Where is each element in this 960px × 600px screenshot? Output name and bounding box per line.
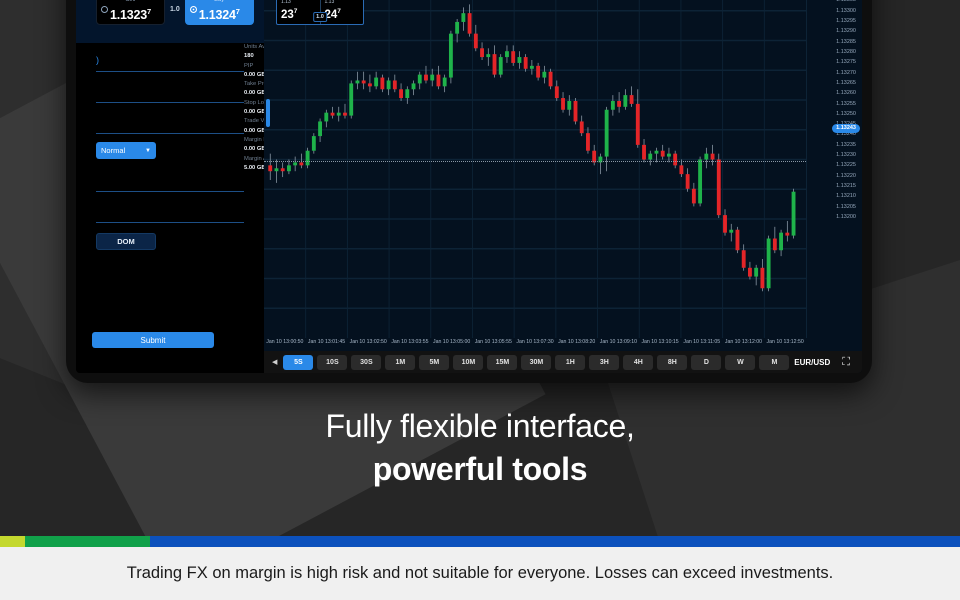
order-bidask-area: Sell 1.13237 1.0 Buy 1.13247 xyxy=(76,0,264,25)
timeframe-toolbar: ◀ 5S10S30S1M5M10M15M30M1H3H4H8HDWM EUR/U… xyxy=(264,351,862,373)
bid-ask-spread: 1.0 xyxy=(170,6,180,13)
price-tick: 1.13270 xyxy=(836,70,856,77)
order-field-3[interactable] xyxy=(96,111,244,134)
chart-popup-spread: 1.0 xyxy=(313,12,327,22)
timeframe-button-3h[interactable]: 3H xyxy=(589,355,619,370)
price-tick: 1.13255 xyxy=(836,101,856,108)
footer-bar: Trading FX on margin is high risk and no… xyxy=(0,547,960,600)
price-tick: 1.13305 xyxy=(836,0,856,4)
timeframe-button-1m[interactable]: 1M xyxy=(385,355,415,370)
time-tick: Jan 10 13:10:15 xyxy=(641,339,678,345)
price-tick: 1.13235 xyxy=(836,142,856,149)
headline-line-2: powerful tools xyxy=(0,447,960,491)
color-stripe xyxy=(0,536,960,547)
time-tick: Jan 10 13:09:10 xyxy=(600,339,637,345)
chart-panel: EUR/USD ▲ Sell 1.13 237 Buy 1.13 247 xyxy=(264,0,862,373)
price-axis[interactable]: 1.133101.133051.133001.132951.132901.132… xyxy=(806,0,862,338)
sell-radio-icon[interactable] xyxy=(101,6,108,13)
tablet-device: Sell 1.13237 1.0 Buy 1.13247 0.718800.71… xyxy=(66,0,872,383)
time-tick: Jan 10 13:05:55 xyxy=(475,339,512,345)
timeframe-button-30m[interactable]: 30M xyxy=(521,355,551,370)
price-tick: 1.13200 xyxy=(836,214,856,221)
submit-button[interactable]: Submit xyxy=(92,332,214,348)
chevron-down-icon: ▼ xyxy=(145,148,151,154)
time-tick: Jan 10 13:07:30 xyxy=(516,339,553,345)
price-tick: 1.13300 xyxy=(836,8,856,15)
candles-svg xyxy=(264,0,806,338)
price-tick: 1.13215 xyxy=(836,183,856,190)
price-tick: 1.13210 xyxy=(836,193,856,200)
stripe-segment-green xyxy=(25,536,150,547)
buy-price-button[interactable]: Buy 1.13247 xyxy=(185,0,254,25)
price-tick: 1.13295 xyxy=(836,18,856,25)
bid-ask-selector[interactable]: Sell 1.13237 1.0 Buy 1.13247 xyxy=(96,0,264,25)
timeframe-button-4h[interactable]: 4H xyxy=(623,355,653,370)
price-tick: 1.13260 xyxy=(836,90,856,97)
price-tick: 1.13225 xyxy=(836,162,856,169)
order-field-1[interactable]: ) xyxy=(96,49,244,72)
buy-price-value: 1.13247 xyxy=(191,4,248,23)
order-type-value: Normal xyxy=(101,146,125,155)
timeframe-button-30s[interactable]: 30S xyxy=(351,355,381,370)
chart-active-pair[interactable]: EUR/USD xyxy=(794,358,830,367)
timeframe-button-w[interactable]: W xyxy=(725,355,755,370)
buy-radio-icon[interactable] xyxy=(190,6,197,13)
sell-price-value: 1.13237 xyxy=(102,4,159,23)
order-type-select[interactable]: Normal ▼ xyxy=(96,142,156,159)
chevron-left-icon[interactable]: ◀ xyxy=(270,358,279,366)
price-tick: 1.13290 xyxy=(836,28,856,35)
time-tick: Jan 10 13:12:50 xyxy=(767,339,804,345)
timeframe-button-15m[interactable]: 15M xyxy=(487,355,517,370)
chart-popup-buy-value: 247 xyxy=(325,5,360,22)
chart-popup-sell-value: 237 xyxy=(281,5,316,22)
price-tick: 1.13275 xyxy=(836,59,856,66)
current-price-tag: 1.13243 xyxy=(832,124,860,133)
order-field-2[interactable] xyxy=(96,80,244,103)
sell-price-button[interactable]: Sell 1.13237 xyxy=(96,0,165,25)
price-cursor-line xyxy=(264,161,806,162)
time-tick: Jan 10 13:05:00 xyxy=(433,339,470,345)
chart-toolbar-right: EUR/USD ⛶ xyxy=(794,357,856,368)
risk-disclaimer: Trading FX on margin is high risk and no… xyxy=(127,564,834,583)
dom-button[interactable]: DOM xyxy=(96,233,156,250)
time-tick: Jan 10 13:11:05 xyxy=(683,339,720,345)
timeframe-button-10m[interactable]: 10M xyxy=(453,355,483,370)
order-field-4[interactable] xyxy=(96,169,244,192)
chart-pair-quote-popup[interactable]: EUR/USD ▲ Sell 1.13 237 Buy 1.13 247 xyxy=(276,0,364,25)
timeframe-button-10s[interactable]: 10S xyxy=(317,355,347,370)
order-entry-panel: ) Normal ▼ DOM Submit xyxy=(76,43,264,373)
stripe-segment-blue xyxy=(150,536,960,547)
time-tick: Jan 10 13:00:50 xyxy=(266,339,303,345)
time-tick: Jan 10 13:08:20 xyxy=(558,339,595,345)
price-tick: 1.13230 xyxy=(836,152,856,159)
app-screen: Sell 1.13237 1.0 Buy 1.13247 0.718800.71… xyxy=(76,0,862,373)
time-tick: Jan 10 13:01:45 xyxy=(308,339,345,345)
timeframe-button-8h[interactable]: 8H xyxy=(657,355,687,370)
candlestick-plot[interactable] xyxy=(264,0,806,338)
time-tick: Jan 10 13:12:00 xyxy=(725,339,762,345)
timeframe-button-1h[interactable]: 1H xyxy=(555,355,585,370)
price-tick: 1.13285 xyxy=(836,39,856,46)
timeframe-button-d[interactable]: D xyxy=(691,355,721,370)
price-tick: 1.13220 xyxy=(836,173,856,180)
promo-headline: Fully flexible interface, powerful tools xyxy=(0,405,960,491)
timeframe-button-5s[interactable]: 5S xyxy=(283,355,313,370)
stripe-segment-yellow xyxy=(0,536,25,547)
order-field-5[interactable] xyxy=(96,200,244,223)
order-level-marker[interactable] xyxy=(266,99,270,127)
price-tick: 1.13205 xyxy=(836,204,856,211)
timeframe-buttons: 5S10S30S1M5M10M15M30M1H3H4H8HDWM xyxy=(283,355,789,370)
timeframe-button-m[interactable]: M xyxy=(759,355,789,370)
time-axis: Jan 10 13:00:50Jan 10 13:01:45Jan 10 13:… xyxy=(264,338,806,351)
price-tick: 1.13265 xyxy=(836,80,856,87)
promo-screenshot: Sell 1.13237 1.0 Buy 1.13247 0.718800.71… xyxy=(0,0,960,600)
time-tick: Jan 10 13:02:50 xyxy=(350,339,387,345)
timeframe-button-5m[interactable]: 5M xyxy=(419,355,449,370)
price-tick: 1.13250 xyxy=(836,111,856,118)
headline-line-1: Fully flexible interface, xyxy=(0,405,960,447)
fullscreen-icon[interactable]: ⛶ xyxy=(842,357,850,368)
price-tick: 1.13280 xyxy=(836,49,856,56)
time-tick: Jan 10 13:03:55 xyxy=(391,339,428,345)
